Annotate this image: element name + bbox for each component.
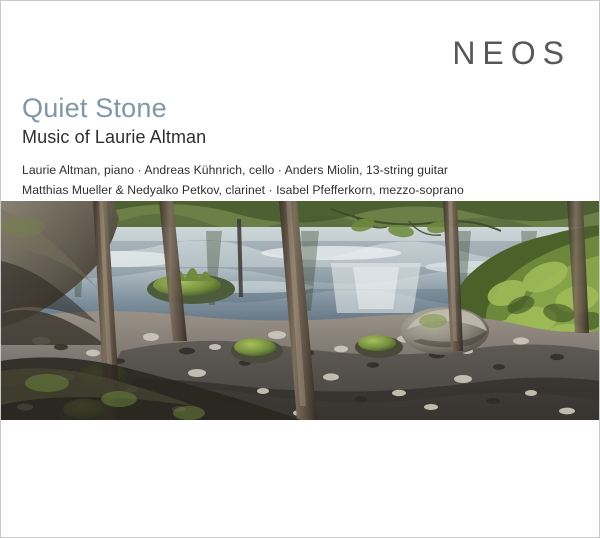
credits-block: Laurie Altman, piano · Andreas Kühnrich,… — [22, 161, 582, 201]
album-subtitle: Music of Laurie Altman — [22, 127, 582, 149]
album-cover: NEOS Quiet Stone Music of Laurie Altman … — [0, 0, 600, 538]
neos-label-logo: NEOS — [452, 37, 571, 69]
credit-line-1: Laurie Altman, piano · Andreas Kühnrich,… — [22, 161, 582, 181]
credit-line-2: Matthias Mueller & Nedyalko Petkov, clar… — [22, 181, 582, 201]
cover-photograph-artwork — [1, 201, 600, 420]
album-title: Quiet Stone — [22, 93, 582, 123]
lower-white-area — [1, 420, 600, 538]
cover-photograph — [1, 201, 600, 420]
title-block: Quiet Stone Music of Laurie Altman — [22, 93, 582, 149]
large-boulder — [401, 307, 489, 355]
